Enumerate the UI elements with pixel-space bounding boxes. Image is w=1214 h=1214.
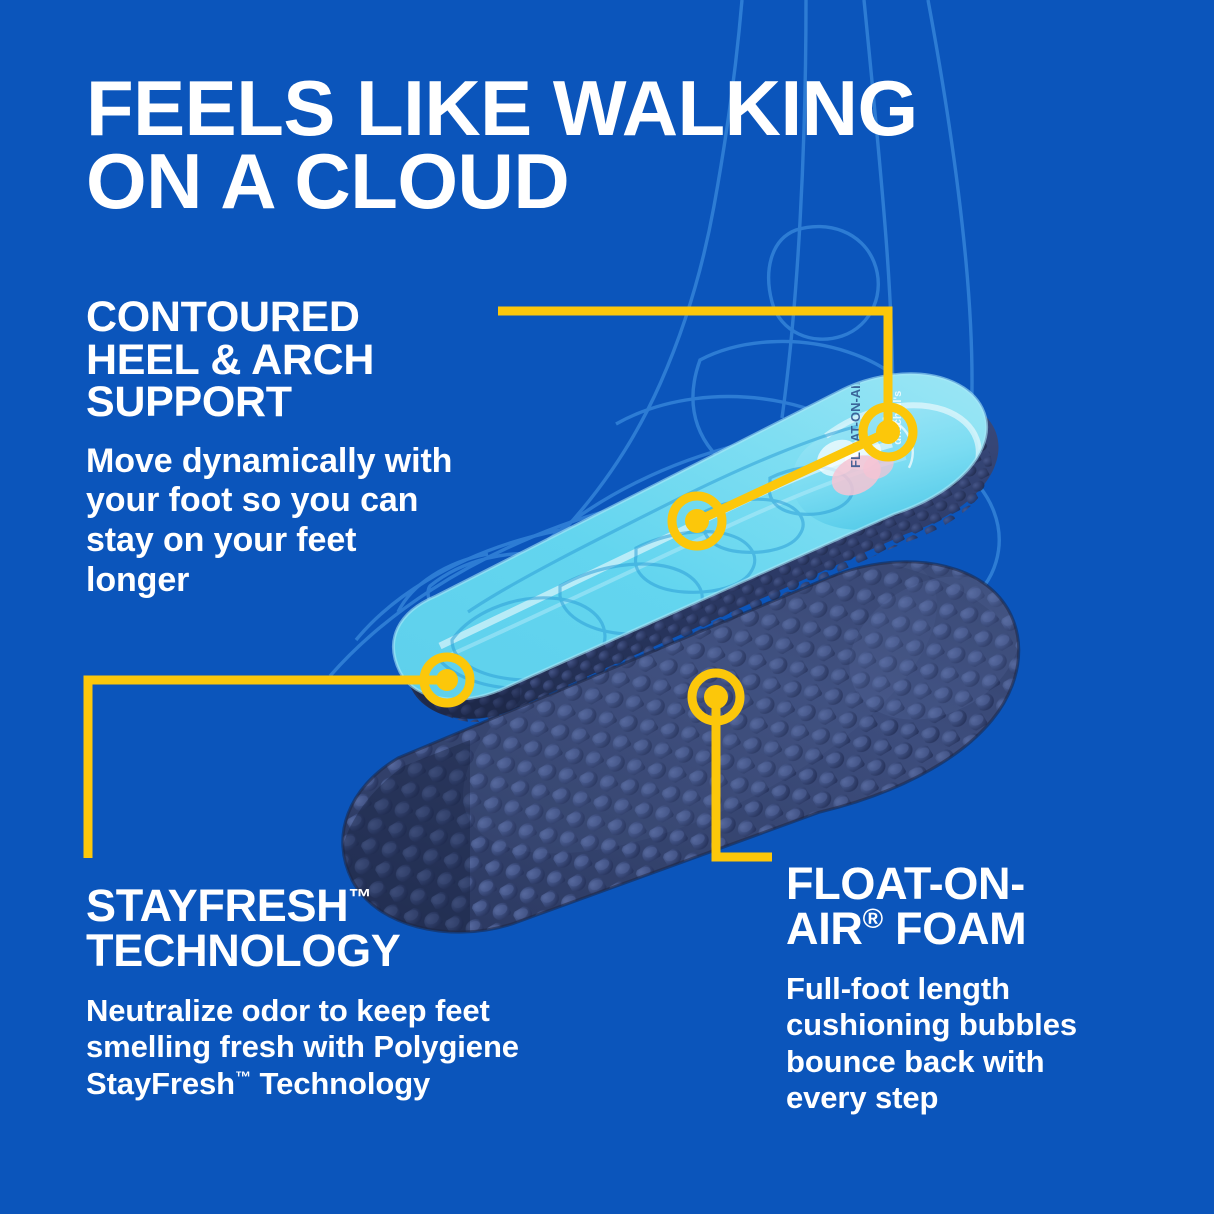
feature-body-stayfresh: Neutralize odor to keep feet smelling fr… (86, 993, 666, 1102)
registered-trademark-icon: ® (863, 903, 883, 934)
feature-title-stayfresh: STAYFRESH™TECHNOLOGY (86, 884, 666, 973)
trademark-icon: ™ (235, 1068, 251, 1086)
callout-dot-floatonair (692, 673, 740, 721)
product-feature-infographic: FLOAT-ON-AIR dr.scholl's (0, 0, 1214, 1214)
feature-title-stayfresh-line2: TECHNOLOGY (86, 925, 401, 976)
page-headline: FEELS LIKE WALKING ON A CLOUD (86, 72, 1116, 217)
insole-brand-mark: FLOAT-ON-AIR dr.scholl's (786, 355, 937, 505)
callout-line-stayfresh (88, 680, 447, 858)
feature-title-stayfresh-line1: STAYFRESH (86, 880, 348, 931)
callout-dot-arch (672, 496, 722, 546)
feature-body-floatonair: Full-foot length cushioning bubbles boun… (786, 971, 1146, 1116)
callout-line-heel (498, 311, 888, 432)
trademark-icon: ™ (348, 884, 371, 910)
feature-body-contoured: Move dynamically with your foot so you c… (86, 442, 516, 601)
feature-body-stayfresh-part2: Technology (251, 1066, 430, 1101)
callout-dot-heel (863, 407, 913, 457)
svg-text:dr.scholl's: dr.scholl's (892, 391, 904, 445)
feature-float-on-air-foam: FLOAT-ON- AIR® FOAM Full-foot length cus… (786, 862, 1146, 1116)
callout-line-arch (697, 432, 888, 521)
svg-text:FLOAT-ON-AIR: FLOAT-ON-AIR (848, 375, 863, 468)
callout-dot-stayfresh (424, 657, 470, 703)
feature-stayfresh-technology: STAYFRESH™TECHNOLOGY Neutralize odor to … (86, 884, 666, 1102)
feature-title-contoured: CONTOURED HEEL & ARCH SUPPORT (86, 296, 516, 424)
feature-title-floatonair-part2: FOAM (883, 903, 1026, 954)
callout-line-floatonair (716, 697, 772, 857)
feature-title-floatonair: FLOAT-ON- AIR® FOAM (786, 862, 1146, 951)
feature-contoured-heel-arch-support: CONTOURED HEEL & ARCH SUPPORT Move dynam… (86, 296, 516, 601)
